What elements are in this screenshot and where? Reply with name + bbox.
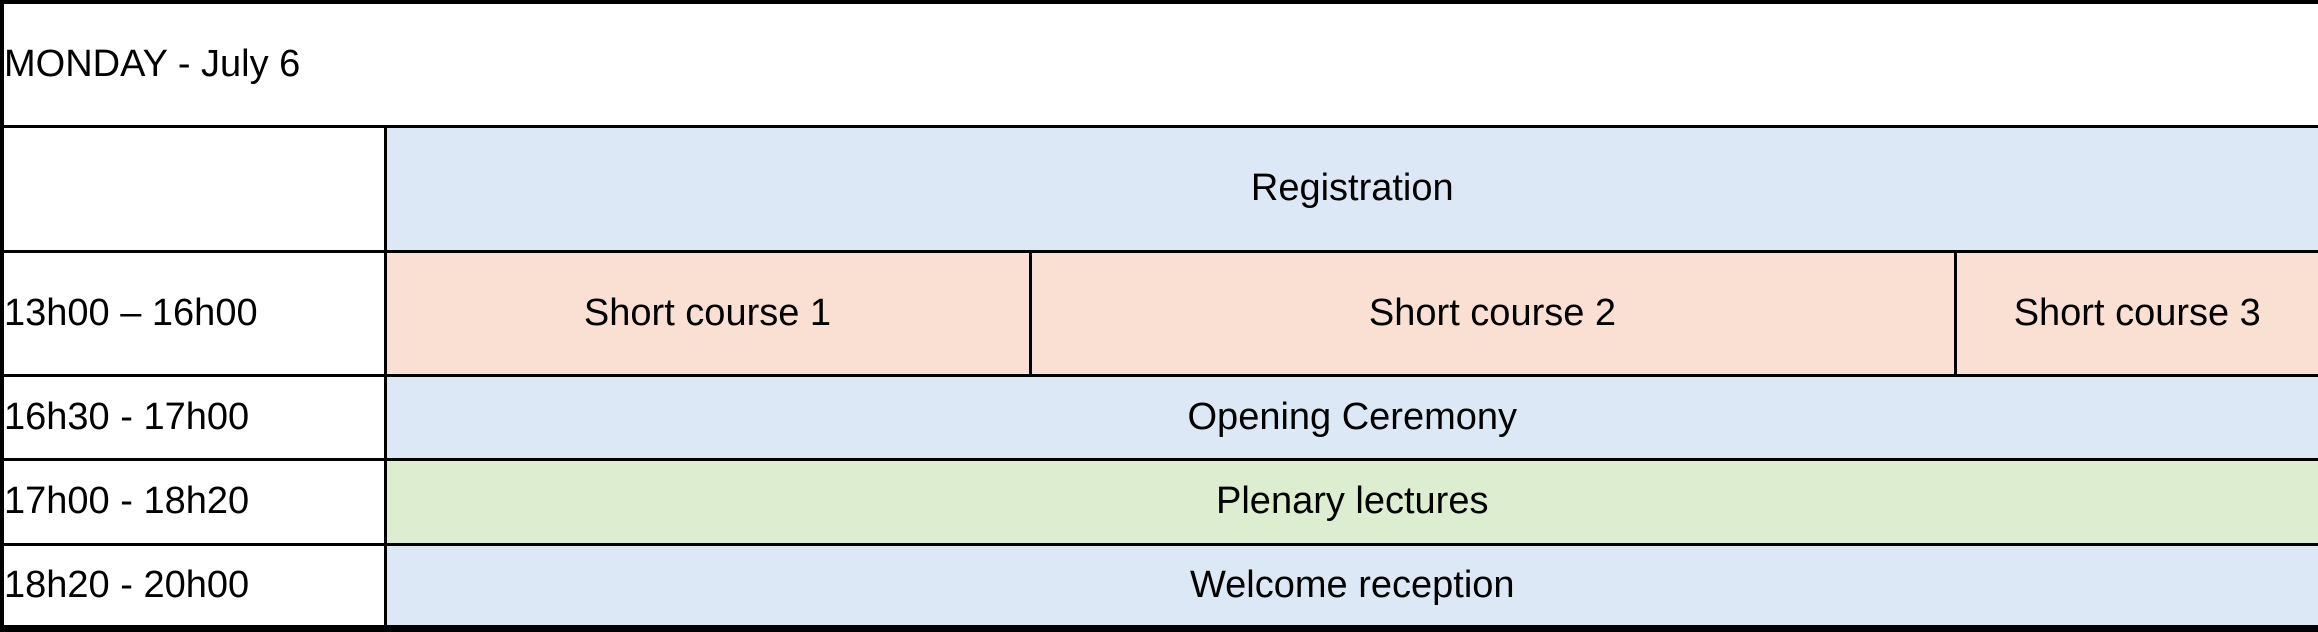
time-label-short-courses: 13h00 – 16h00 xyxy=(2,252,385,376)
time-label-registration xyxy=(2,127,385,252)
activity-registration: Registration xyxy=(385,127,2318,252)
table-row-opening-ceremony: 16h30 - 17h00 Opening Ceremony xyxy=(2,376,2318,460)
daily-schedule-table: MONDAY - July 6 Registration 13h00 – 16h… xyxy=(0,0,2318,632)
activity-opening-ceremony: Opening Ceremony xyxy=(385,376,2318,460)
activity-short-course-3: Short course 3 xyxy=(1955,252,2318,376)
activity-short-course-1: Short course 1 xyxy=(385,252,1030,376)
table-row-registration: Registration xyxy=(2,127,2318,252)
table-row-short-courses: 13h00 – 16h00 Short course 1 Short cours… xyxy=(2,252,2318,376)
activity-plenary-lectures: Plenary lectures xyxy=(385,460,2318,544)
time-label-opening-ceremony: 16h30 - 17h00 xyxy=(2,376,385,460)
time-label-plenary-lectures: 17h00 - 18h20 xyxy=(2,460,385,544)
activity-welcome-reception: Welcome reception xyxy=(385,544,2318,628)
table-row-day-header: MONDAY - July 6 xyxy=(2,2,2318,127)
day-header-label: MONDAY - July 6 xyxy=(2,2,2318,127)
time-label-welcome-reception: 18h20 - 20h00 xyxy=(2,544,385,628)
table-row-plenary-lectures: 17h00 - 18h20 Plenary lectures xyxy=(2,460,2318,544)
activity-short-course-2: Short course 2 xyxy=(1030,252,1955,376)
table-row-welcome-reception: 18h20 - 20h00 Welcome reception xyxy=(2,544,2318,628)
